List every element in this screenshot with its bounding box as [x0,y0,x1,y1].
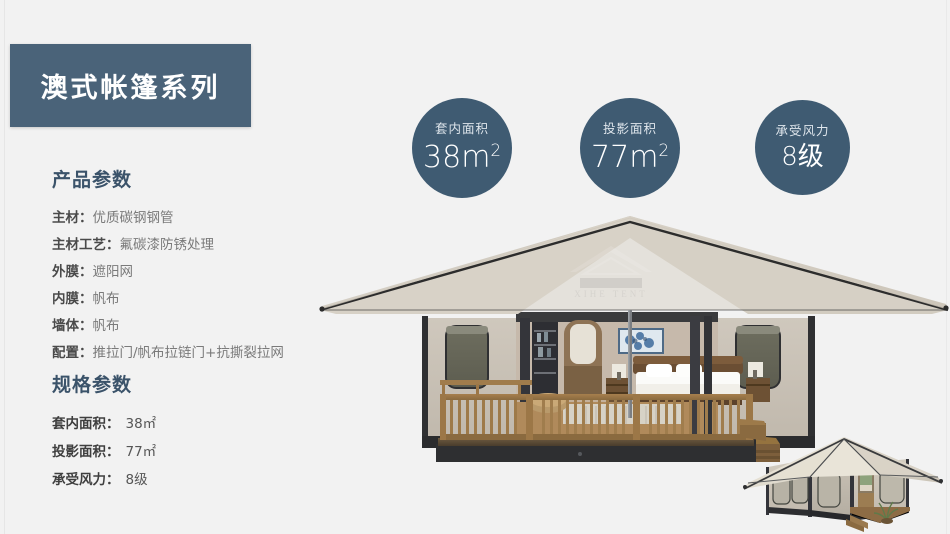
spec-value: 77㎡ [120,444,157,460]
spec-params-heading: 规格参数 [52,370,342,397]
stat-number: 38 [423,140,461,175]
stat-superscript: 2 [490,141,501,160]
stat-value: 8级 [781,144,824,170]
spec-key: 承受风力： [52,472,120,488]
spec-params-section: 规格参数 套内面积：38㎡ 投影面积：77㎡ 承受风力：8级 [52,370,342,494]
slide-root: 澳式帐篷系列 产品参数 主材：优质碳钢钢管 主材工艺：氟碳漆防锈处理 外膜：遮阳… [0,0,950,534]
spec-value: 帆布 [93,318,120,334]
secondary-tent-image [740,415,950,534]
stat-label: 投影面积 [603,123,657,136]
spec-key: 内膜： [52,291,93,307]
spec-row: 墙体：帆布 [52,313,342,340]
stat-label: 套内面积 [435,123,489,136]
stat-value: 77m2 [591,143,669,173]
spec-row: 主材：优质碳钢钢管 [52,205,342,232]
spec-row: 主材工艺：氟碳漆防锈处理 [52,232,342,259]
spec-row: 套内面积：38㎡ [52,410,342,438]
spec-value: 帆布 [93,291,120,307]
spec-value: 8级 [120,472,148,488]
spec-value: 推拉门/帆布拉链门+抗撕裂拉网 [93,345,284,361]
stat-badge-interior-area: 套内面积 38m2 [412,98,512,198]
product-params-heading: 产品参数 [52,165,342,192]
spec-key: 主材： [52,210,93,226]
title-banner: 澳式帐篷系列 [10,44,251,127]
spec-row: 配置：推拉门/帆布拉链门+抗撕裂拉网 [52,340,342,367]
spec-key: 主材工艺： [52,237,120,253]
spec-value: 38㎡ [120,416,157,432]
spec-key: 配置： [52,345,93,361]
spec-row: 承受风力：8级 [52,466,342,494]
spec-row: 投影面积：77㎡ [52,438,342,466]
spec-value: 遮阳网 [93,264,134,280]
stat-number: 8级 [781,142,824,172]
spec-key: 套内面积： [52,416,120,432]
stat-value: 38m2 [423,143,501,173]
product-params-section: 产品参数 主材：优质碳钢钢管 主材工艺：氟碳漆防锈处理 外膜：遮阳网 内膜：帆布… [52,165,342,367]
page-title: 澳式帐篷系列 [41,66,221,105]
spec-value: 优质碳钢钢管 [93,210,174,226]
stat-unit: m [629,140,658,175]
stat-badge-projected-area: 投影面积 77m2 [580,98,680,198]
spec-row: 外膜：遮阳网 [52,259,342,286]
stat-label: 承受风力 [775,125,829,138]
left-edge-rule [4,0,5,534]
spec-row: 内膜：帆布 [52,286,342,313]
stat-number: 77 [591,140,629,175]
stat-unit: m [461,140,490,175]
spec-key: 墙体： [52,318,93,334]
spec-key: 外膜： [52,264,93,280]
stat-superscript: 2 [658,141,669,160]
stat-badge-wind-resistance: 承受风力 8级 [755,100,850,195]
spec-value: 氟碳漆防锈处理 [120,237,215,253]
spec-key: 投影面积： [52,444,120,460]
